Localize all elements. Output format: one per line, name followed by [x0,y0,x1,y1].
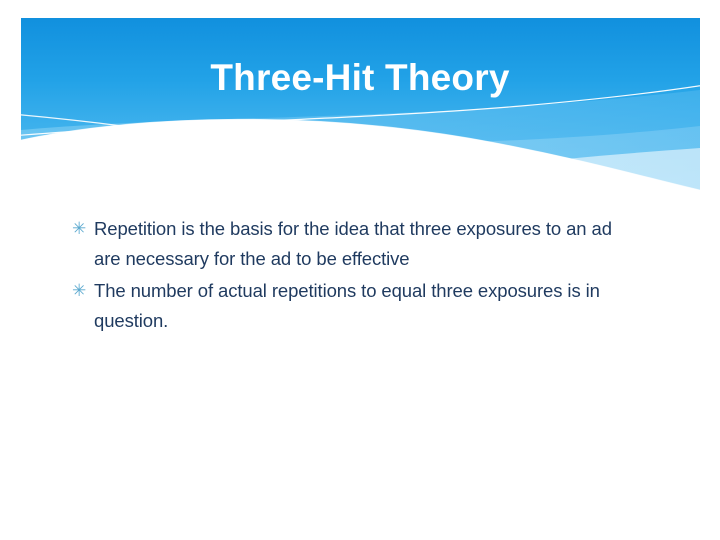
presentation-slide: Three-Hit Theory ✳ Repetition is the bas… [0,0,720,540]
slide-header-banner [21,18,700,195]
slide-body-content: ✳ Repetition is the basis for the idea t… [72,214,632,338]
bullet-list-item: ✳ The number of actual repetitions to eq… [72,276,632,336]
asterisk-bullet-icon: ✳ [72,276,94,306]
bullet-list-item: ✳ Repetition is the basis for the idea t… [72,214,632,274]
slide-title: Three-Hit Theory [0,55,720,101]
bullet-text: The number of actual repetitions to equa… [94,276,632,336]
bullet-text: Repetition is the basis for the idea tha… [94,214,632,274]
asterisk-bullet-icon: ✳ [72,214,94,244]
banner-wave-graphic [21,18,700,195]
